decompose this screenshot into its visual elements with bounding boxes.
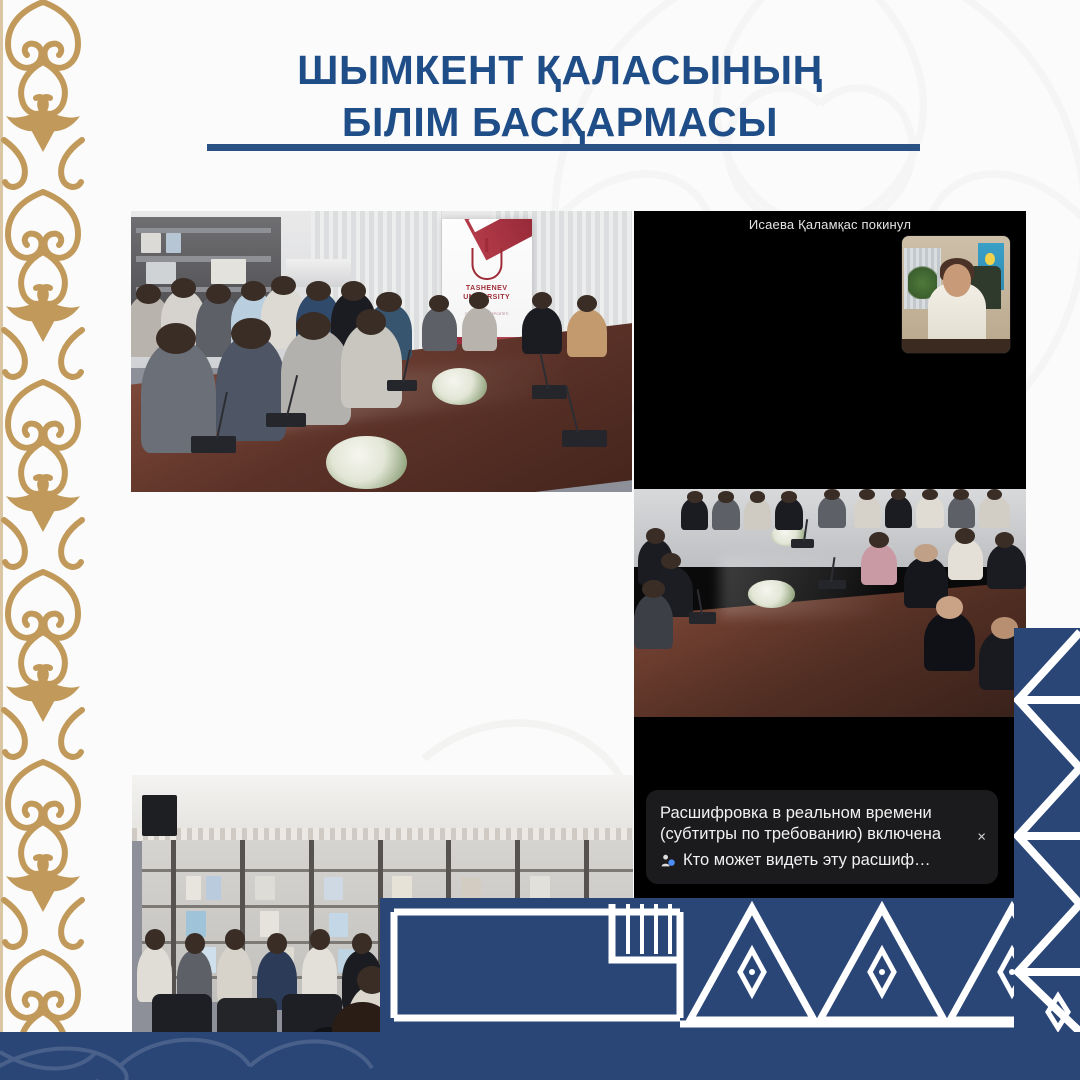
title-underline-rule (207, 144, 920, 151)
page-title: ШЫМКЕНТ ҚАЛАСЫНЫҢ БІЛІМ БАСҚАРМАСЫ (140, 44, 980, 149)
toast-privacy-link[interactable]: Кто может видеть эту расшиф… (683, 851, 931, 870)
right-geometric-panel (1014, 628, 1080, 1032)
geometric-pattern-band (380, 898, 1080, 1032)
gold-ornament-strip (0, 0, 86, 1080)
footer-band (0, 1032, 1080, 1080)
participant-status-label: Исаева Қаламқас покинул (634, 217, 1026, 232)
title-line-1: ШЫМКЕНТ ҚАЛАСЫНЫҢ (140, 44, 980, 96)
toast-title: Расшифровка в реальном времени (субтитры… (660, 803, 984, 846)
shared-camera-view (634, 489, 1026, 717)
footer-band-ornament (0, 1032, 1080, 1080)
video-conference-panel: Исаева Қаламқас покинул (634, 211, 1026, 900)
close-icon[interactable]: × (977, 829, 986, 844)
poster-canvas: ШЫМКЕНТ ҚАЛАСЫНЫҢ БІЛІМ БАСҚАРМАСЫ (0, 0, 1080, 1080)
photo-roundtable-meeting: TASHENEV UNIVERSITY ТАШЕНЕВ УНИВЕРСИТЕТІ (131, 211, 632, 492)
people-icon (660, 853, 676, 869)
transcription-toast: Расшифровка в реальном времени (субтитры… (646, 790, 998, 884)
self-view-thumbnail[interactable] (902, 236, 1010, 353)
title-line-2: БІЛІМ БАСҚАРМАСЫ (140, 96, 980, 148)
